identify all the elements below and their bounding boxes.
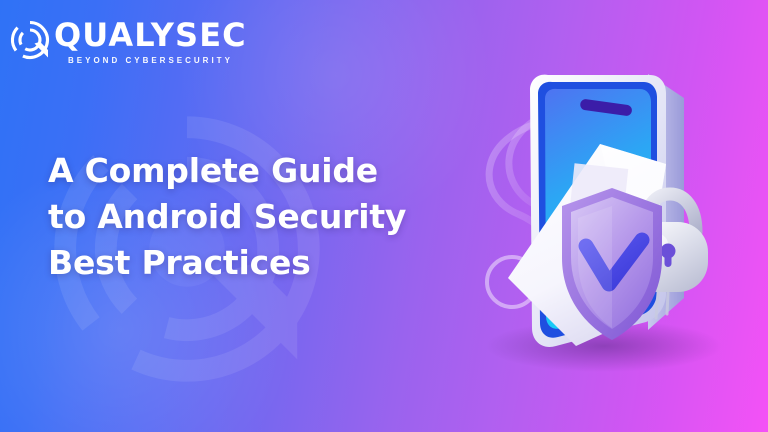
android-security-illustration <box>452 46 752 391</box>
page-title-line-1: A Complete Guide <box>48 148 468 194</box>
brand-tagline: BEYOND CYBERSECURITY <box>68 55 247 67</box>
brand-wordmark: QUALYSEC <box>54 18 247 52</box>
brand-logo: QUALYSEC BEYOND CYBERSECURITY <box>8 18 247 72</box>
page-title: A Complete Guide to Android Security Bes… <box>48 148 468 286</box>
banner: QUALYSEC BEYOND CYBERSECURITY A Complete… <box>0 0 768 432</box>
qualysec-q-mark-icon <box>8 17 56 65</box>
page-title-line-2: to Android Security <box>48 194 468 240</box>
page-title-line-3: Best Practices <box>48 240 468 286</box>
